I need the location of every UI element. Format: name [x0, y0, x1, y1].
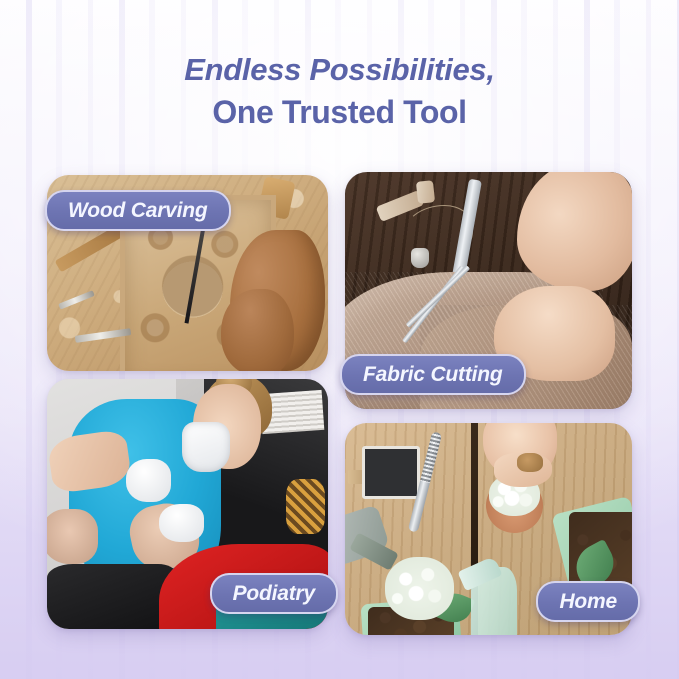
- label-home[interactable]: Home: [536, 581, 640, 622]
- page-title: Endless Possibilities, One Trusted Tool: [0, 52, 679, 131]
- latex-glove-lower: [159, 504, 204, 542]
- clinician-trousers: [47, 564, 176, 629]
- headline-line-2: One Trusted Tool: [0, 94, 679, 132]
- card-fabric-cutting[interactable]: Fabric Cutting: [345, 172, 632, 409]
- tailor-hand-upper: [517, 172, 632, 291]
- infographic-canvas: Endless Possibilities, One Trusted Tool …: [0, 0, 679, 679]
- patterned-fabric: [286, 479, 325, 534]
- card-wood-carving[interactable]: Wood Carving: [47, 175, 328, 371]
- carver-hand-left: [221, 289, 294, 371]
- patient-foot-left: [47, 509, 98, 564]
- white-flower-cluster-bottom: [385, 557, 454, 621]
- label-wood-carving[interactable]: Wood Carving: [45, 190, 231, 231]
- latex-glove-upper: [126, 459, 171, 502]
- thread-spool-2-icon: [416, 181, 435, 205]
- chalkboard-tag-icon: [362, 446, 420, 499]
- headline-line-1: Endless Possibilities,: [0, 52, 679, 89]
- card-podiatry[interactable]: Podiatry: [47, 379, 328, 629]
- face-mask-icon: [182, 422, 230, 472]
- card-home[interactable]: Home: [345, 423, 632, 635]
- label-podiatry[interactable]: Podiatry: [210, 573, 338, 614]
- label-fabric-cutting[interactable]: Fabric Cutting: [340, 354, 526, 395]
- thimble-icon: [411, 248, 429, 268]
- soil-clump-icon: [517, 453, 543, 472]
